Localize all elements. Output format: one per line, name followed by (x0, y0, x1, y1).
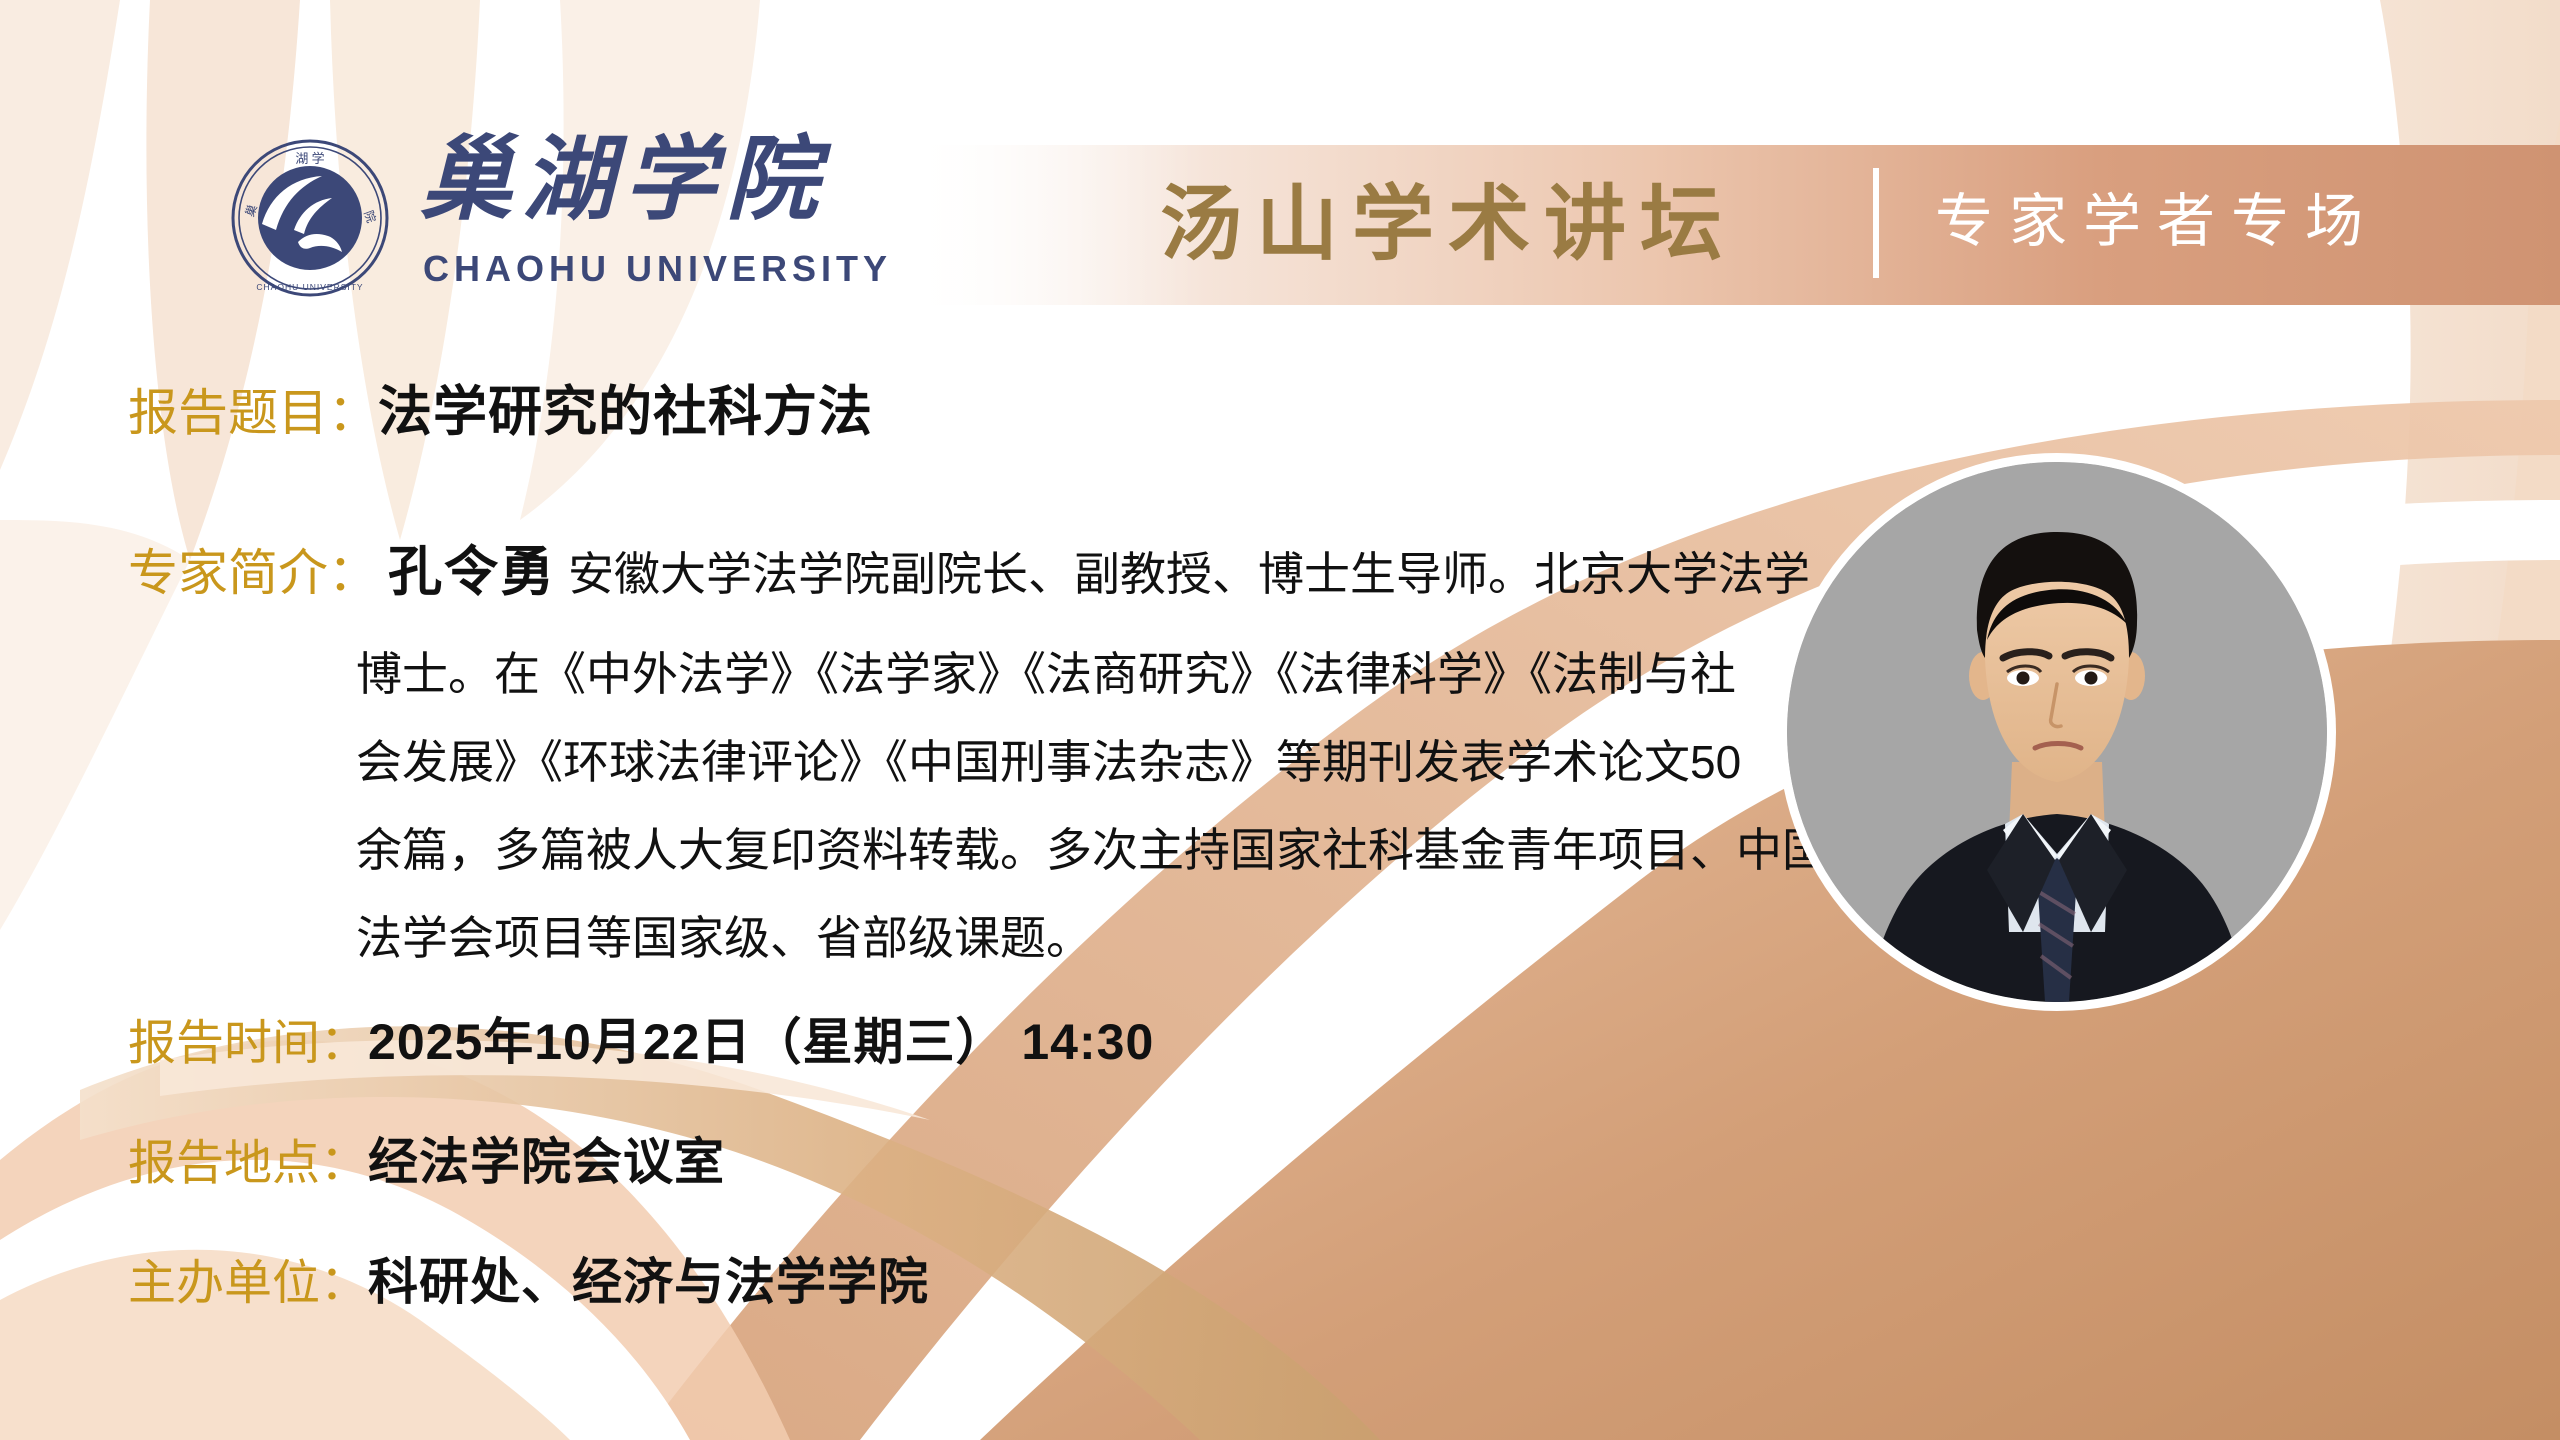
host-organization-label: 主办单位： (128, 1257, 368, 1310)
forum-title: 汤山学术讲坛 (1160, 155, 1736, 295)
report-time-value: 2025年10月22日（星期三） 14:30 (368, 1014, 1154, 1070)
university-name-en: CHAOHU UNIVERSITY (423, 248, 892, 290)
svg-text:湖 学: 湖 学 (295, 151, 324, 166)
speaker-bio-row: 专家简介：孔令勇安徽大学法学院副院长、副教授、博士生导师。北京大学法学 博士。在… (128, 528, 1778, 982)
host-organization-value: 科研处、经济与法学学院 (368, 1254, 929, 1310)
svg-text:院: 院 (361, 209, 378, 225)
report-title-value: 法学研究的社科方法 (378, 382, 873, 442)
report-place-label: 报告地点： (128, 1137, 368, 1190)
university-seal-icon: 湖 学 巢 院 CHAOHU UNIVERSITY (230, 138, 390, 298)
speaker-bio-line-2: 会发展》《环球法律评论》《中国刑事法杂志》等期刊发表学术论文50 (356, 718, 1778, 806)
report-title-row: 报告题目：法学研究的社科方法 (128, 376, 873, 449)
report-time-row: 报告时间：2025年10月22日（星期三） 14:30 (128, 1006, 1154, 1091)
session-title: 专家学者专场 (1935, 172, 2379, 272)
university-name-cn: 巢湖学院 (420, 120, 828, 240)
speaker-bio-first-line: 专家简介：孔令勇安徽大学法学院副院长、副教授、博士生导师。北京大学法学 (128, 528, 1778, 630)
speaker-bio-line-4: 法学会项目等国家级、省部级课题。 (356, 894, 1778, 982)
speaker-bio-line-3: 余篇，多篇被人大复印资料转载。多次主持国家社科基金青年项目、中国 (356, 806, 1778, 894)
speaker-name: 孔令勇 (388, 542, 556, 602)
report-place-row: 报告地点：经法学院会议室 (128, 1126, 725, 1211)
svg-text:CHAOHU UNIVERSITY: CHAOHU UNIVERSITY (256, 282, 363, 292)
speaker-bio-line-1: 博士。在《中外法学》《法学家》《法商研究》《法律科学》《法制与社 (356, 630, 1778, 718)
speaker-portrait (1787, 462, 2327, 1002)
host-organization-row: 主办单位：科研处、经济与法学学院 (128, 1246, 929, 1331)
svg-text:巢: 巢 (243, 203, 260, 219)
speaker-bio-label: 专家简介： (128, 545, 378, 601)
speaker-bio-line-0: 安徽大学法学院副院长、副教授、博士生导师。北京大学法学 (568, 548, 1810, 600)
report-place-value: 经法学院会议室 (368, 1134, 725, 1190)
report-time-label: 报告时间： (128, 1017, 368, 1070)
portrait-illustration (1787, 462, 2327, 1002)
poster-canvas: 汤山学术讲坛 专家学者专场 湖 学 巢 院 CHAOHU UNIVERSITY … (0, 0, 2560, 1440)
header-divider (1873, 168, 1879, 278)
report-title-label: 报告题目： (128, 385, 378, 441)
